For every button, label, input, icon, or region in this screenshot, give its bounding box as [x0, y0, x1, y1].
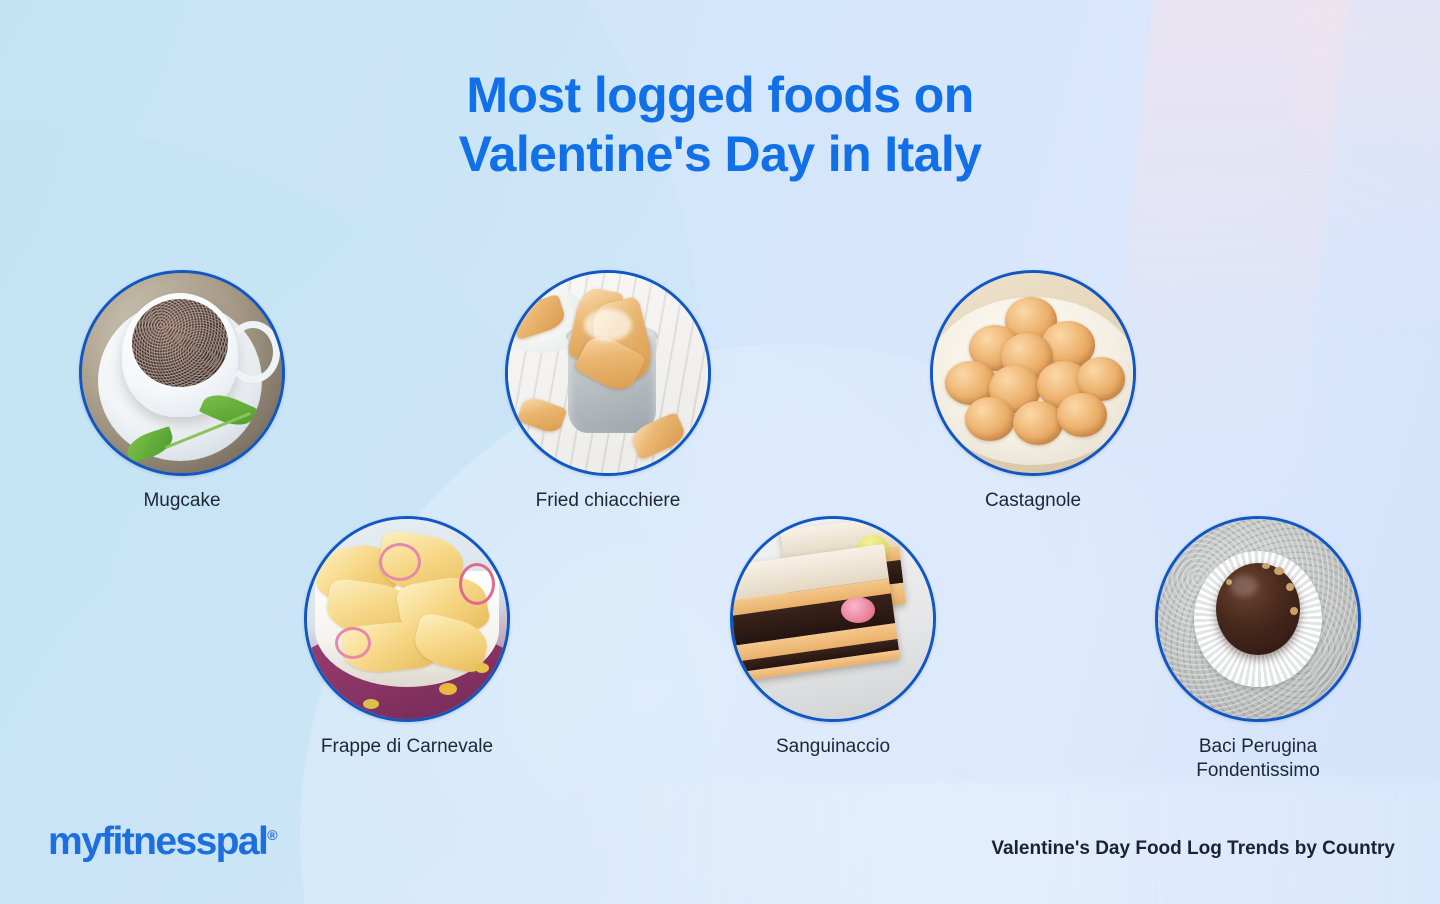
food-item-fried-chiacchiere: Fried chiacchiere	[478, 270, 738, 513]
food-label: Sanguinaccio	[703, 735, 963, 759]
food-item-baci-perugina-fondentissimo: Baci Perugina Fondentissimo	[1128, 516, 1388, 784]
myfitnesspal-logo: myfitnesspal®	[48, 820, 278, 864]
sanguinaccio-illustration	[733, 519, 933, 719]
food-item-frappe-di-carnevale: Frappe di Carnevale	[277, 516, 537, 759]
baci-perugina-illustration	[1158, 519, 1358, 719]
frappe-di-carnevale-illustration	[307, 519, 507, 719]
food-label: Baci Perugina Fondentissimo	[1128, 735, 1388, 784]
fried-chiacchiere-illustration	[508, 273, 708, 473]
mugcake-illustration	[82, 273, 282, 473]
registered-trademark-icon: ®	[267, 827, 277, 843]
castagnole-illustration	[933, 273, 1133, 473]
infographic-canvas: Most logged foods on Valentine's Day in …	[0, 0, 1440, 904]
food-label: Frappe di Carnevale	[277, 735, 537, 759]
food-item-sanguinaccio: Sanguinaccio	[703, 516, 963, 759]
food-label: Castagnole	[903, 489, 1163, 513]
baci-perugina-fondentissimo-photo	[1155, 516, 1361, 722]
food-label: Mugcake	[52, 489, 312, 513]
food-item-castagnole: Castagnole	[903, 270, 1163, 513]
series-title: Valentine's Day Food Log Trends by Count…	[991, 838, 1395, 860]
castagnole-photo	[930, 270, 1136, 476]
sanguinaccio-photo	[730, 516, 936, 722]
frappe-di-carnevale-photo	[304, 516, 510, 722]
fried-chiacchiere-photo	[505, 270, 711, 476]
food-label: Fried chiacchiere	[478, 489, 738, 513]
food-item-mugcake: Mugcake	[52, 270, 312, 513]
logo-wordmark: myfitnesspal	[48, 820, 267, 863]
mugcake-photo	[79, 270, 285, 476]
page-title: Most logged foods on Valentine's Day in …	[0, 66, 1440, 184]
